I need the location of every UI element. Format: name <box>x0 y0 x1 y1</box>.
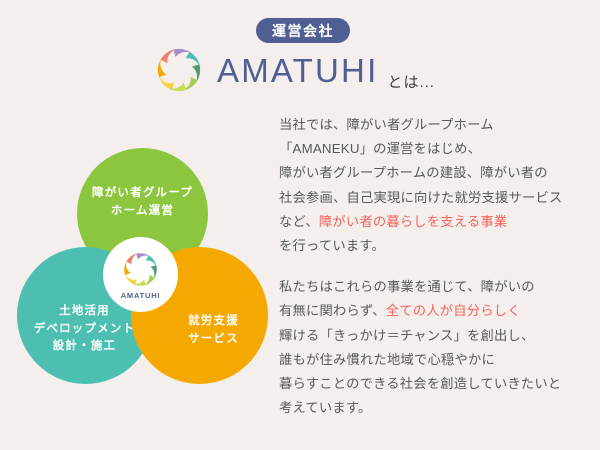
paragraph-2: 私たちはこれらの事業を通じて、障がいの 有無に関わらず、全ての人が自分らしく 輝… <box>279 275 589 420</box>
venn-circle-employment-support-label: 就労支援 サービス <box>188 313 239 349</box>
venn-label-line: サービス <box>188 331 239 349</box>
copy-line: など、 <box>279 214 319 229</box>
brand-lockup: AMATUHI とは... <box>155 44 435 96</box>
copy-line: 誰もが住み慣れた地域で心穏やかに <box>279 352 495 367</box>
venn-label-line: 障がい者グループ <box>92 185 193 203</box>
brand-suffix: とは... <box>387 71 435 92</box>
copy-line: 社会参画、自己実現に向けた就労支援サービス <box>279 190 562 205</box>
copy-line: 考えています。 <box>279 400 371 415</box>
venn-label-line: ホーム運営 <box>92 203 193 221</box>
page-root: 運営会社 AMATUHI とは... 障がい者グループ ホーム運営 土地活用 デ… <box>0 0 600 450</box>
pinwheel-flower-logo-icon <box>155 46 203 94</box>
venn-label-line: 設計・施工 <box>34 338 136 356</box>
copy-highlight: 障がい者の暮らしを支える事業 <box>319 214 508 229</box>
copy-line: 私たちはこれらの事業を通じて、障がいの <box>279 279 535 294</box>
paragraph-1: 当社では、障がい者グループホーム 「AMANEKU」の運営をはじめ、 障がい者グ… <box>279 113 589 258</box>
venn-center-brand: AMATUHI <box>103 237 178 312</box>
body-copy: 当社では、障がい者グループホーム 「AMANEKU」の運営をはじめ、 障がい者グ… <box>279 113 589 420</box>
venn-circle-land-development-label: 土地活用 デベロップメント 設計・施工 <box>34 303 136 356</box>
brand-name: AMATUHI <box>217 54 378 87</box>
venn-label-line: デベロップメント <box>34 321 136 339</box>
copy-line: を行っています。 <box>279 238 385 253</box>
copy-line: 障がい者グループホームの建設、障がい者の <box>279 165 548 180</box>
venn-center-brand-name: AMATUHI <box>121 290 161 302</box>
venn-circle-group-home-label: 障がい者グループ ホーム運営 <box>92 185 193 221</box>
copy-line: 「AMANEKU」の運営をはじめ、 <box>279 141 481 156</box>
copy-line: 当社では、障がい者グループホーム <box>279 117 494 132</box>
venn-label-line: 就労支援 <box>188 313 239 331</box>
section-badge: 運営会社 <box>256 18 350 43</box>
copy-highlight: 全ての人が自分らしく <box>386 303 521 318</box>
copy-line: 輝ける「きっかけ＝チャンス」を創出し、 <box>279 328 535 343</box>
copy-line: 暮らすことのできる社会を創造していきたいと <box>279 376 561 391</box>
paragraph-spacer <box>279 258 589 275</box>
copy-line: 有無に関わらず、 <box>279 303 386 318</box>
pinwheel-flower-logo-icon <box>122 251 159 288</box>
